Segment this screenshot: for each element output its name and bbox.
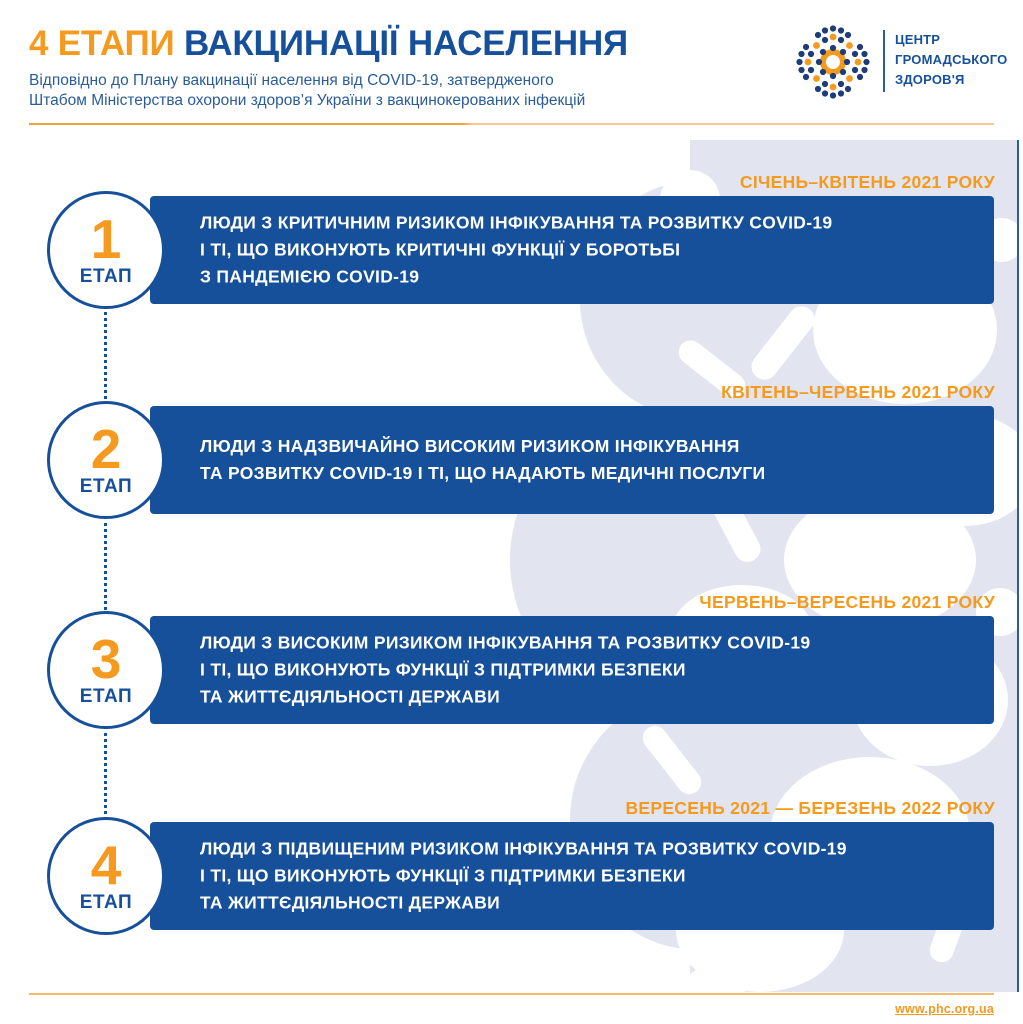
stage-label: ЕТАП (80, 892, 133, 914)
stage-band: ЛЮДИ З ВИСОКИМ РИЗИКОМ ІНФІКУВАННЯ ТА РО… (150, 616, 994, 724)
header-divider-rule (29, 123, 994, 125)
stage-number: 1 (91, 216, 122, 263)
phc-dot-mandala-logo-icon (795, 24, 871, 100)
page-title-accent: 4 ЕТАПИ (29, 24, 174, 63)
page-subtitle: Відповідно до Плану вакцинації населення… (29, 71, 585, 111)
header: 4 ЕТАПИ ВАКЦИНАЦІЇ НАСЕЛЕННЯ Відповідно … (0, 0, 1023, 128)
footer-website-link[interactable]: www.phc.org.ua (895, 1002, 994, 1016)
stage-band: ЛЮДИ З КРИТИЧНИМ РИЗИКОМ ІНФІКУВАННЯ ТА … (150, 196, 994, 304)
stage-number: 2 (91, 426, 122, 473)
stage-number: 4 (91, 842, 122, 889)
footer-divider-rule (29, 993, 994, 995)
stage-marker: 4 ЕТАП (47, 817, 165, 935)
stage-label: ЕТАП (80, 476, 133, 498)
stage-number: 3 (91, 636, 122, 683)
stage-label: ЕТАП (80, 266, 133, 288)
stage-marker: 2 ЕТАП (47, 401, 165, 519)
stage-description: ЛЮДИ З ВИСОКИМ РИЗИКОМ ІНФІКУВАННЯ ТА РО… (200, 630, 810, 711)
stage-connector-2-3 (104, 516, 107, 622)
infographic-page: 4 ЕТАПИ ВАКЦИНАЦІЇ НАСЕЛЕННЯ Відповідно … (0, 0, 1023, 1024)
stage-connector-1-2 (104, 305, 107, 413)
stage-description: ЛЮДИ З ПІДВИЩЕНИМ РИЗИКОМ ІНФІКУВАННЯ ТА… (200, 836, 847, 917)
logo-divider (883, 30, 885, 92)
stage-band: ЛЮДИ З НАДЗВИЧАЙНО ВИСОКИМ РИЗИКОМ ІНФІК… (150, 406, 994, 514)
stage-date: КВІТЕНЬ–ЧЕРВЕНЬ 2021 РОКУ (721, 382, 995, 403)
stage-marker: 3 ЕТАП (47, 611, 165, 729)
phc-logo: ЦЕНТР ГРОМАДСЬКОГО ЗДОРОВ'Я (795, 24, 1000, 100)
logo-wordmark: ЦЕНТР ГРОМАДСЬКОГО ЗДОРОВ'Я (895, 30, 1007, 90)
stage-description: ЛЮДИ З КРИТИЧНИМ РИЗИКОМ ІНФІКУВАННЯ ТА … (200, 210, 832, 291)
stage-band: ЛЮДИ З ПІДВИЩЕНИМ РИЗИКОМ ІНФІКУВАННЯ ТА… (150, 822, 994, 930)
stage-date: СІЧЕНЬ–КВІТЕНЬ 2021 РОКУ (740, 172, 995, 193)
stage-date: ВЕРЕСЕНЬ 2021 — БЕРЕЗЕНЬ 2022 РОКУ (625, 798, 995, 819)
stage-description: ЛЮДИ З НАДЗВИЧАЙНО ВИСОКИМ РИЗИКОМ ІНФІК… (200, 433, 765, 487)
stages-list: СІЧЕНЬ–КВІТЕНЬ 2021 РОКУ ЛЮДИ З КРИТИЧНИ… (0, 0, 1023, 1024)
stage-label: ЕТАП (80, 686, 133, 708)
stage-marker: 1 ЕТАП (47, 191, 165, 309)
stage-date: ЧЕРВЕНЬ–ВЕРЕСЕНЬ 2021 РОКУ (699, 592, 995, 613)
page-title: 4 ЕТАПИ ВАКЦИНАЦІЇ НАСЕЛЕННЯ (29, 26, 628, 61)
page-title-main: ВАКЦИНАЦІЇ НАСЕЛЕННЯ (184, 24, 628, 63)
